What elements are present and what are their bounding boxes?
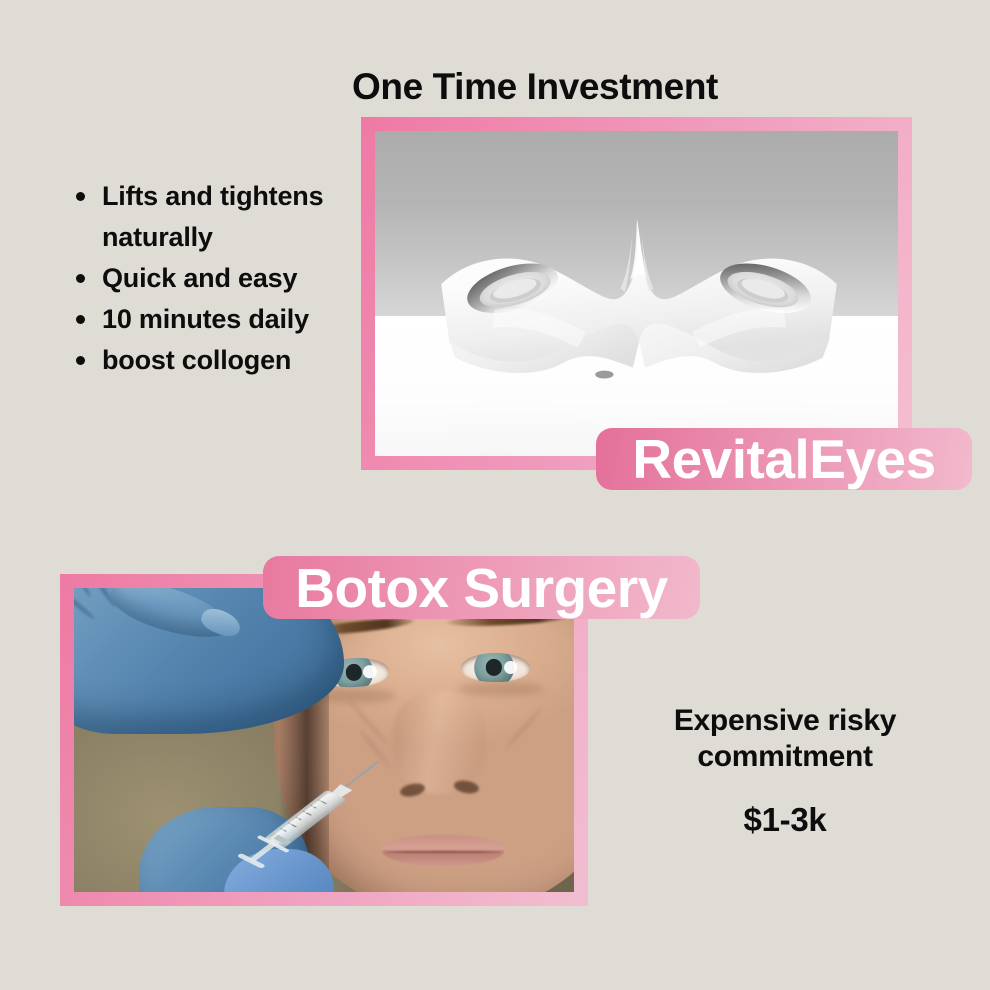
eye-massager-device: [433, 193, 841, 382]
eye-glint: [504, 661, 518, 675]
botox-photo: [74, 588, 574, 892]
botox-description-line-1: Expensive risky: [620, 703, 950, 739]
cheek-wrinkle: [505, 707, 544, 750]
benefit-text: 10 minutes daily: [102, 304, 309, 334]
bullet-dot-icon: [76, 274, 85, 283]
benefit-text: Quick and easy: [102, 263, 297, 293]
product-photo: [375, 131, 898, 456]
nostril: [399, 782, 426, 799]
list-item: 10 minutes daily: [68, 299, 368, 340]
lip-line: [386, 851, 501, 853]
list-item: Lifts and tightens naturally: [68, 176, 368, 258]
botox-description-line-2: commitment: [620, 739, 950, 775]
benefit-text: boost collogen: [102, 345, 291, 375]
benefits-list: Lifts and tightens naturally Quick and e…: [68, 176, 368, 381]
botox-label-badge: Botox Surgery: [263, 556, 700, 619]
botox-photo-frame: [60, 574, 588, 906]
list-item: Quick and easy: [68, 258, 368, 299]
eye-glint: [363, 665, 377, 679]
pupil: [486, 659, 503, 676]
glove-wrinkle: [74, 588, 95, 620]
nose: [393, 692, 487, 794]
nostril: [453, 779, 480, 795]
undereye-shadow: [458, 682, 544, 696]
bullet-dot-icon: [76, 315, 85, 324]
eye-right: [461, 653, 529, 682]
benefit-text: Lifts and tightens naturally: [102, 181, 323, 252]
botox-price: $1-3k: [620, 801, 950, 839]
poster-canvas: One Time Investment Lifts and tightens n…: [0, 0, 990, 990]
list-item: boost collogen: [68, 340, 368, 381]
bullet-dot-icon: [76, 192, 85, 201]
product-brand-badge: RevitalEyes: [596, 428, 972, 490]
product-photo-frame: [361, 117, 912, 470]
bullet-dot-icon: [76, 356, 85, 365]
glove-wrinkle: [74, 588, 93, 598]
page-title: One Time Investment: [0, 66, 990, 108]
botox-description-block: Expensive risky commitment $1-3k: [620, 703, 950, 839]
syringe: [214, 761, 384, 889]
pupil: [345, 664, 362, 681]
